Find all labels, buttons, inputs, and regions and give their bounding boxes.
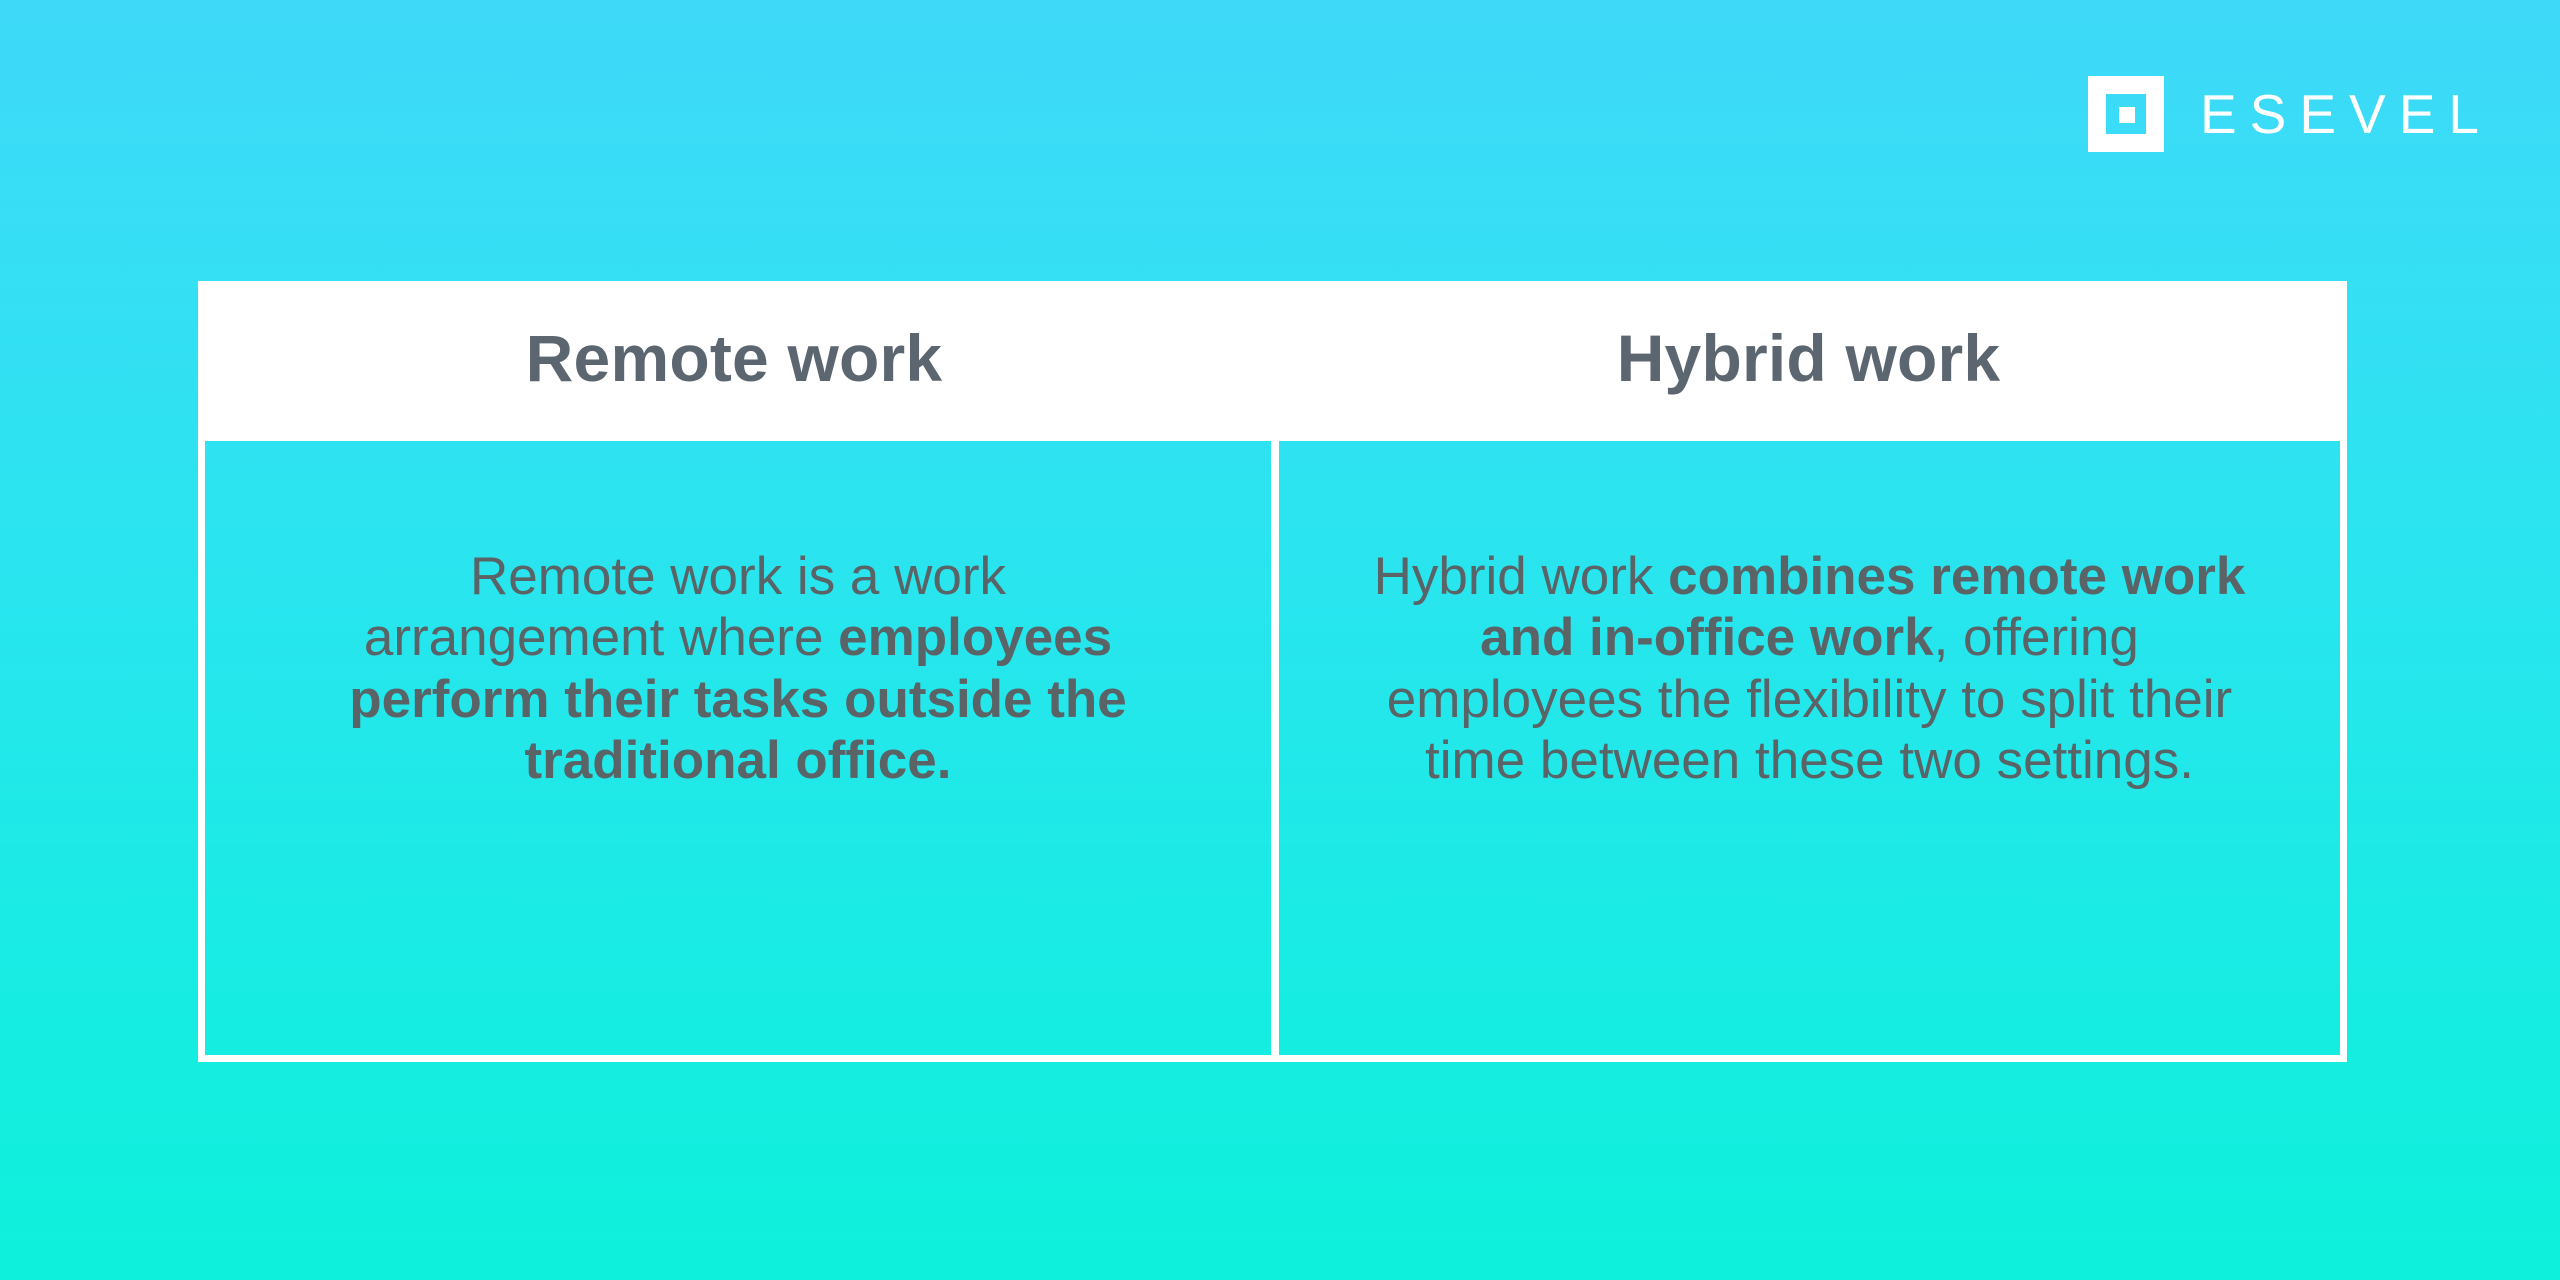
- brand-name: ESEVEL: [2198, 87, 2492, 142]
- column-heading-remote-work: Remote work: [526, 325, 943, 391]
- brand-logo-lockup: ESEVEL: [2088, 76, 2492, 152]
- table-header-cell-hybrid-work: Hybrid work: [1270, 281, 2347, 434]
- esevel-nested-square-logo-icon: [2088, 76, 2164, 152]
- table-body-row: Remote work is a work arrangement where …: [198, 434, 2347, 1062]
- remote-work-description: Remote work is a work arrangement where …: [318, 546, 1158, 792]
- table-header-cell-remote-work: Remote work: [198, 281, 1270, 434]
- comparison-table: Remote work Hybrid work Remote work is a…: [198, 281, 2347, 1062]
- column-heading-hybrid-work: Hybrid work: [1617, 325, 2001, 391]
- slide-canvas: ESEVEL Remote work Hybrid work Remote wo…: [0, 0, 2560, 1280]
- table-header-row: Remote work Hybrid work: [198, 281, 2347, 434]
- table-body-cell-remote-work: Remote work is a work arrangement where …: [198, 434, 1275, 1062]
- hybrid-work-description: Hybrid work combines remote work and in-…: [1360, 546, 2260, 792]
- table-body-cell-hybrid-work: Hybrid work combines remote work and in-…: [1275, 434, 2347, 1062]
